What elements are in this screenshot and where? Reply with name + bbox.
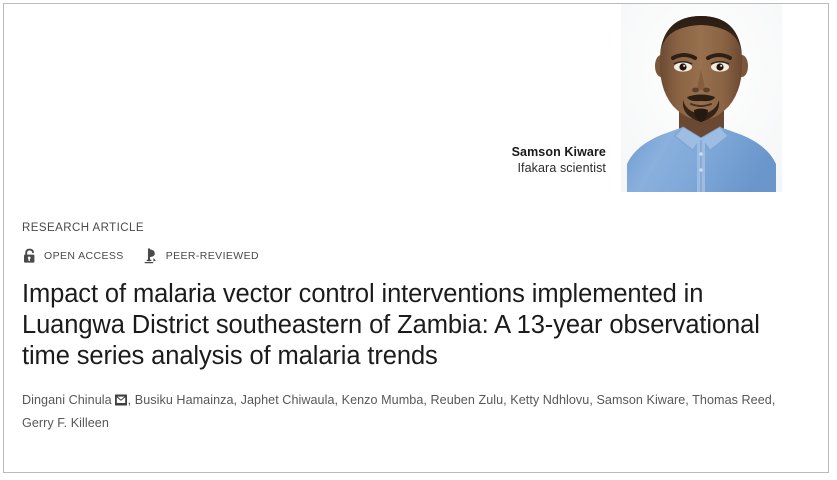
badge-open-access[interactable]: OPEN ACCESS	[22, 248, 124, 264]
author-link[interactable]: Reuben Zulu	[431, 393, 504, 407]
portrait-byline-role: Ifakara scientist	[326, 160, 606, 176]
author-link[interactable]: Ketty Ndhlovu	[510, 393, 589, 407]
open-padlock-icon	[22, 248, 37, 264]
badge-peer-reviewed[interactable]: PEER-REVIEWED	[144, 248, 259, 264]
badge-open-access-label: OPEN ACCESS	[44, 250, 124, 262]
article-type-kicker: RESEARCH ARTICLE	[22, 222, 812, 234]
article-badges: OPEN ACCESS PEER-REVIEWED	[22, 247, 812, 265]
portrait-byline: Samson Kiware Ifakara scientist	[326, 144, 606, 176]
author-link[interactable]: Busiku Hamainza	[135, 393, 234, 407]
author-link[interactable]: Kenzo Mumba	[342, 393, 424, 407]
author-link[interactable]: Gerry F. Killeen	[22, 416, 109, 430]
article-meta: RESEARCH ARTICLE OPEN ACCESS	[22, 222, 812, 435]
portrait-photo-icon	[621, 4, 782, 192]
pen-nib-icon	[144, 248, 159, 264]
article-authors: Dingani Chinula, Busiku Hamainza, Japhet…	[22, 389, 797, 436]
author-separator: ,	[423, 393, 430, 407]
author-separator: ,	[772, 393, 776, 407]
hero-section: Samson Kiware Ifakara scientist	[4, 4, 828, 194]
article-title[interactable]: Impact of malaria vector control interve…	[22, 279, 812, 373]
author-separator: ,	[128, 393, 135, 407]
author-link[interactable]: Japhet Chiwaula	[241, 393, 335, 407]
envelope-icon[interactable]	[115, 394, 127, 406]
portrait-photo	[621, 4, 782, 192]
author-link[interactable]: Thomas Reed	[692, 393, 772, 407]
article-card: Samson Kiware Ifakara scientist	[3, 3, 829, 473]
author-link[interactable]: Samson Kiware	[596, 393, 685, 407]
author-link[interactable]: Dingani Chinula	[22, 393, 112, 407]
badge-peer-reviewed-label: PEER-REVIEWED	[166, 250, 259, 262]
portrait-byline-name: Samson Kiware	[326, 144, 606, 160]
author-separator: ,	[234, 393, 241, 407]
author-separator: ,	[335, 393, 342, 407]
